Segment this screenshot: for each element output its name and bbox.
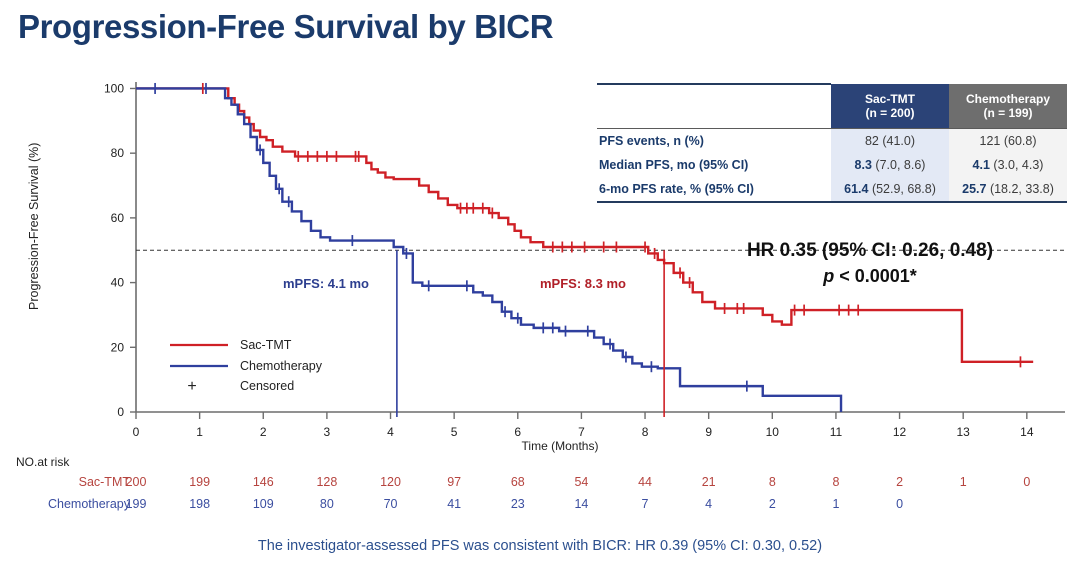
legend-label-censored: Censored [240,379,294,393]
y-axis-label: Progression-Free Survival (%) [27,143,41,310]
y-tick-label: 20 [111,340,125,354]
stats-header-chemo: Chemotherapy (n = 199) [949,84,1067,129]
risk-value: 1 [819,497,853,511]
risk-value: 2 [755,497,789,511]
stats-header-sac: Sac-TMT (n = 200) [831,84,949,129]
risk-value: 54 [564,475,598,489]
risk-value: 4 [692,497,726,511]
stats-value-rest: (7.0, 8.6) [872,158,926,172]
stats-value-bold: 4.1 [973,158,990,172]
stats-header-chemo-n: (n = 199) [949,106,1067,120]
risk-value: 0 [1010,475,1044,489]
risk-value: 68 [501,475,535,489]
stats-value-bold: 8.3 [855,158,872,172]
x-tick-label: 10 [766,425,780,439]
stats-row-1: Median PFS, mo (95% CI) 8.3 (7.0, 8.6) 4… [597,153,1067,177]
stats-row-label: 6-mo PFS rate, % (95% CI) [597,177,831,202]
risk-value: 2 [883,475,917,489]
stats-row-chemo-value: 121 (60.8) [949,129,1067,154]
risk-value: 7 [628,497,662,511]
y-tick-label: 40 [111,276,125,290]
x-tick-label: 9 [705,425,712,439]
x-tick-label: 2 [260,425,267,439]
risk-value: 41 [437,497,471,511]
risk-value: 23 [501,497,535,511]
x-tick-label: 3 [324,425,331,439]
x-tick-label: 1 [196,425,203,439]
y-tick-label: 100 [104,81,124,95]
risk-value: 199 [119,497,153,511]
risk-value: 21 [692,475,726,489]
risk-value: 70 [374,497,408,511]
stats-row-chemo-value: 4.1 (3.0, 4.3) [949,153,1067,177]
risk-value: 200 [119,475,153,489]
stats-row-label: Median PFS, mo (95% CI) [597,153,831,177]
legend-label-sac: Sac-TMT [240,338,292,352]
risk-value: 8 [819,475,853,489]
x-tick-label: 8 [642,425,649,439]
mpfs-sac-annotation: mPFS: 8.3 mo [540,276,626,291]
stats-header-sac-n: (n = 200) [831,106,949,120]
stats-value-rest: 82 (41.0) [865,134,915,148]
x-tick-label: 12 [893,425,907,439]
x-tick-label: 7 [578,425,585,439]
risk-value: 0 [883,497,917,511]
x-tick-label: 4 [387,425,394,439]
stats-row-0: PFS events, n (%) 82 (41.0) 121 (60.8) [597,129,1067,154]
summary-stats-table: Sac-TMT (n = 200) Chemotherapy (n = 199)… [597,83,1067,203]
stats-header-blank [597,84,831,129]
stats-table-header-row: Sac-TMT (n = 200) Chemotherapy (n = 199) [597,84,1067,129]
risk-value: 199 [183,475,217,489]
stats-value-rest: (18.2, 33.8) [986,182,1053,196]
hazard-ratio-text: HR 0.35 (95% CI: 0.26, 0.48) [660,240,1080,262]
stats-row-sac-value: 61.4 (52.9, 68.8) [831,177,949,202]
risk-value: 14 [564,497,598,511]
risk-row-label: Sac-TMT [0,475,130,489]
mpfs-chemo-annotation: mPFS: 4.1 mo [283,276,369,291]
y-tick-label: 0 [117,405,124,419]
stats-value-rest: 121 (60.8) [980,134,1037,148]
x-tick-label: 0 [133,425,140,439]
risk-value: 80 [310,497,344,511]
stats-header-sac-name: Sac-TMT [831,92,949,106]
stats-row-2: 6-mo PFS rate, % (95% CI) 61.4 (52.9, 68… [597,177,1067,202]
risk-value: 1 [946,475,980,489]
chart-legend: Sac-TMT Chemotherapy + Censored [170,338,323,395]
legend-label-chemo: Chemotherapy [240,359,323,373]
risk-value: 198 [183,497,217,511]
stats-value-rest: (52.9, 68.8) [868,182,935,196]
x-axis-ticks [136,412,1027,419]
x-tick-label: 6 [514,425,521,439]
risk-value: 128 [310,475,344,489]
risk-row-chemo: Chemotherapy199198109807041231474210 [0,497,1080,516]
p-symbol: p [823,266,834,286]
x-tick-label: 11 [830,425,843,439]
y-tick-label: 60 [111,211,125,225]
x-axis-label: Time (Months) [522,439,599,453]
risk-value: 8 [755,475,789,489]
x-tick-label: 5 [451,425,458,439]
stats-row-sac-value: 82 (41.0) [831,129,949,154]
stats-row-sac-value: 8.3 (7.0, 8.6) [831,153,949,177]
stats-value-bold: 25.7 [962,182,986,196]
risk-row-label: Chemotherapy [0,497,130,511]
x-tick-labels: 01234567891011121314 [133,425,1034,439]
stats-row-chemo-value: 25.7 (18.2, 33.8) [949,177,1067,202]
censored-plus-icon: + [187,378,196,395]
stats-value-bold: 61.4 [844,182,868,196]
x-tick-label: 13 [957,425,971,439]
p-value-text: p < 0.0001* [660,266,1080,287]
y-tick-label: 80 [111,146,125,160]
page-title: Progression-Free Survival by BICR [18,8,553,46]
risk-row-sac: Sac-TMT200199146128120976854442188210 [0,475,1080,494]
y-tick-labels: 020406080100 [104,81,124,419]
risk-value: 97 [437,475,471,489]
risk-value: 146 [246,475,280,489]
stats-value-rest: (3.0, 4.3) [990,158,1044,172]
footer-note: The investigator-assessed PFS was consis… [0,538,1080,554]
y-axis-ticks [130,88,136,412]
hazard-ratio-block: HR 0.35 (95% CI: 0.26, 0.48) p < 0.0001* [660,240,1080,287]
stats-row-label: PFS events, n (%) [597,129,831,154]
x-tick-label: 14 [1020,425,1034,439]
risk-value: 120 [374,475,408,489]
risk-value: 44 [628,475,662,489]
numbers-at-risk-heading: NO.at risk [16,455,69,469]
risk-value: 109 [246,497,280,511]
stats-header-chemo-name: Chemotherapy [949,92,1067,106]
p-value-rest: < 0.0001* [834,266,917,286]
